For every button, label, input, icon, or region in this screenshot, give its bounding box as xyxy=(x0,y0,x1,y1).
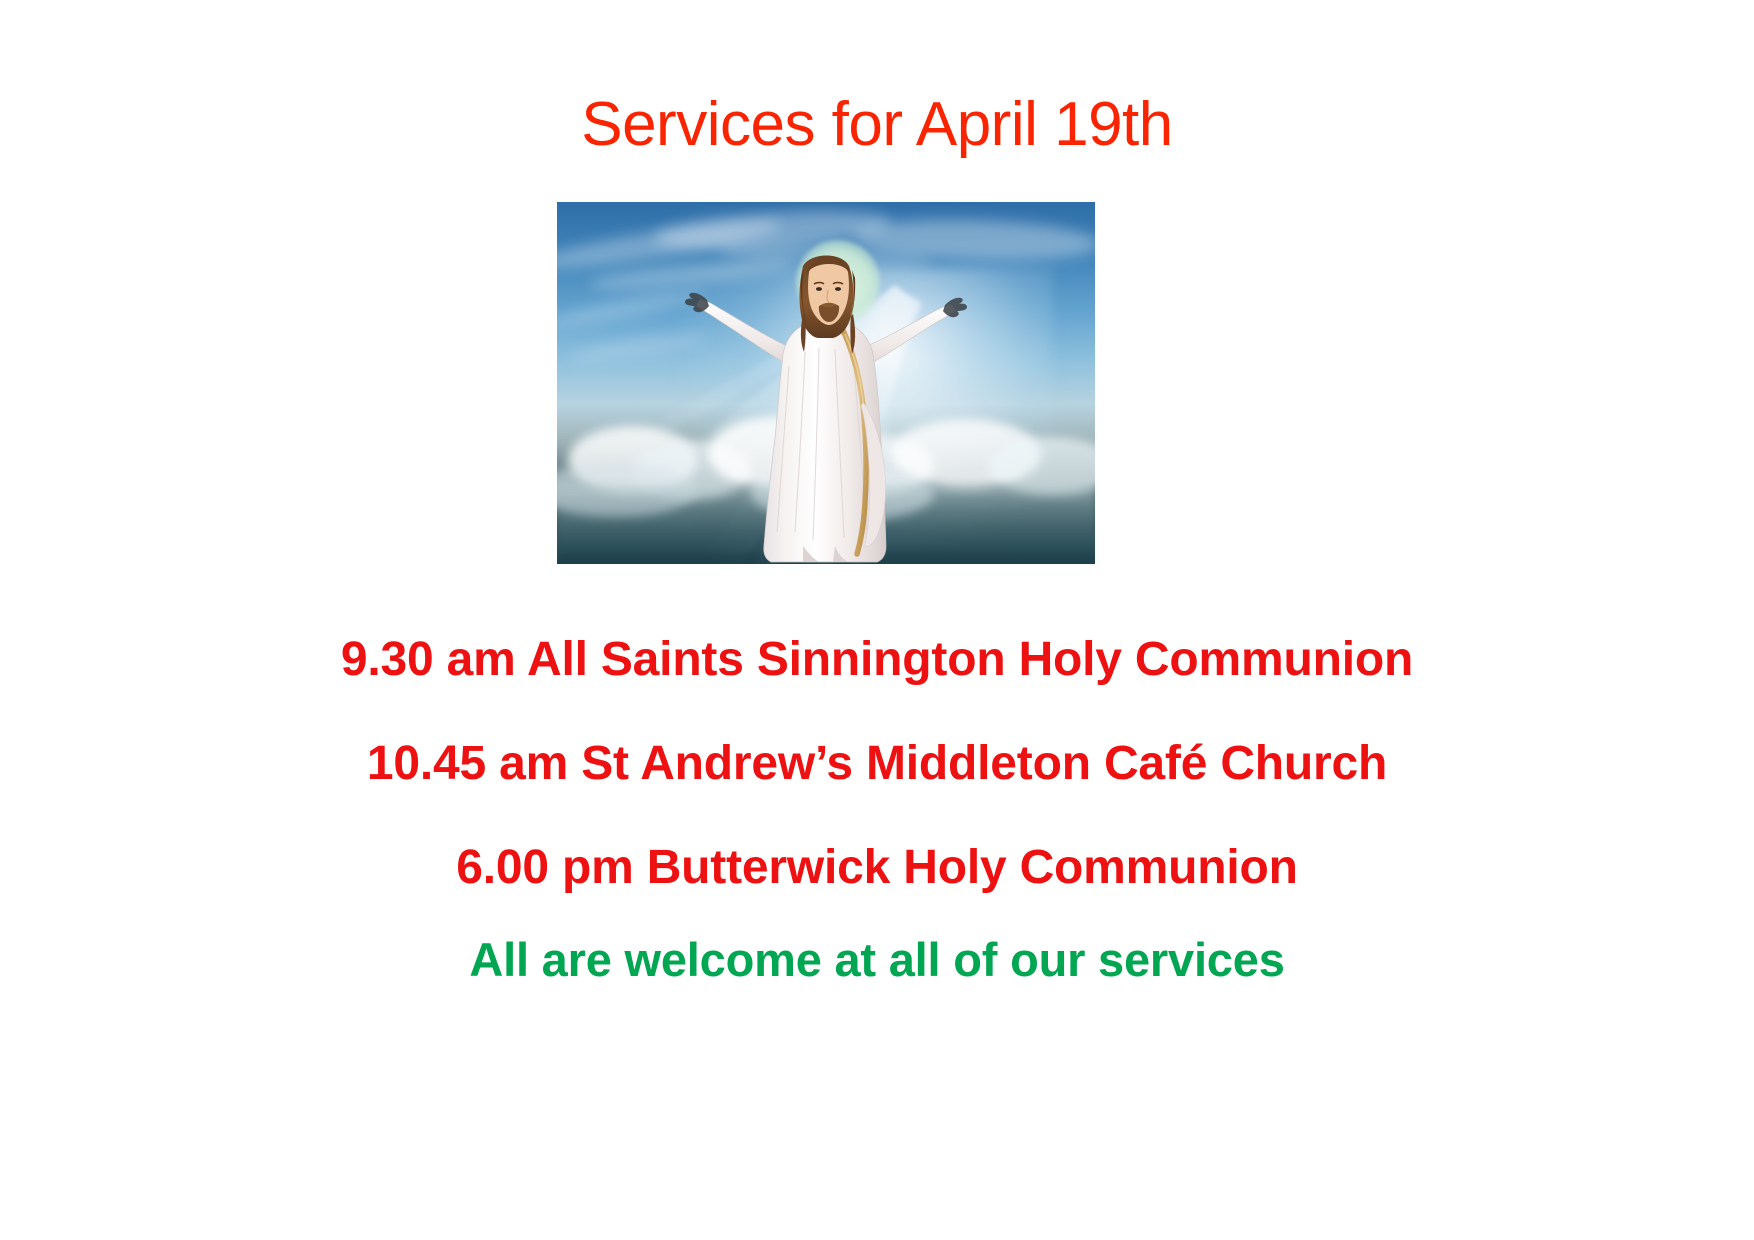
service-line-2: 10.45 am St Andrew’s Middleton Café Chur… xyxy=(0,740,1754,788)
page-title: Services for April 19th xyxy=(0,92,1754,157)
welcome-message: All are welcome at all of our services xyxy=(0,936,1754,983)
spacer xyxy=(0,788,1754,844)
service-line-3: 6.00 pm Butterwick Holy Communion xyxy=(0,844,1754,892)
jesus-figure xyxy=(557,202,1095,564)
spacer xyxy=(0,892,1754,936)
service-poster: Services for April 19th xyxy=(0,0,1754,1240)
spacer xyxy=(0,684,1754,740)
service-line-1: 9.30 am All Saints Sinnington Holy Commu… xyxy=(0,636,1754,684)
service-list: 9.30 am All Saints Sinnington Holy Commu… xyxy=(0,636,1754,983)
jesus-sky-photo xyxy=(557,202,1095,564)
